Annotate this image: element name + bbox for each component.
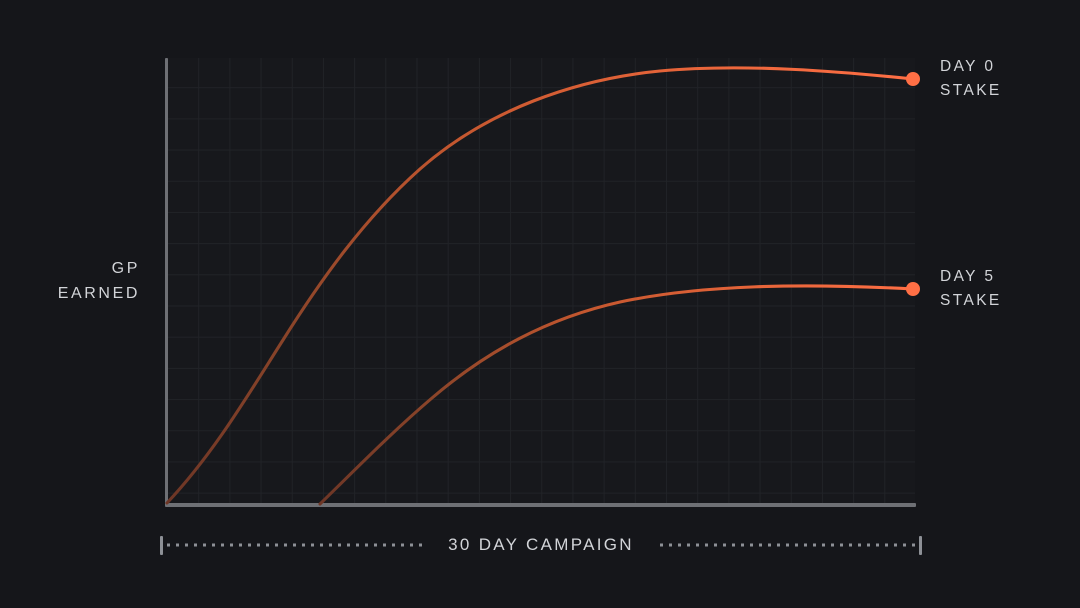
y-axis-title-line2: EARNED xyxy=(0,281,140,306)
endpoint-marker-day5 xyxy=(906,282,920,296)
bracket-dots-right xyxy=(656,536,919,555)
series-label-day0-line2: STAKE xyxy=(940,79,1002,103)
bracket-cap-right xyxy=(919,536,922,555)
chart-canvas: GP EARNED DAY 0 STAKE DAY 5 STAKE 30 DAY… xyxy=(0,0,1080,608)
series-label-day5-line1: DAY 5 xyxy=(940,265,1002,289)
y-axis-title-line1: GP xyxy=(0,256,140,281)
series-line-day5 xyxy=(320,286,913,504)
x-axis-caption: 30 DAY CAMPAIGN xyxy=(160,530,922,560)
series-label-day5-line2: STAKE xyxy=(940,289,1002,313)
series-label-day0-line1: DAY 0 xyxy=(940,55,1002,79)
endpoint-marker-day0 xyxy=(906,72,920,86)
bracket-dots-left xyxy=(163,536,426,555)
series-curves xyxy=(0,0,1080,608)
y-axis-title: GP EARNED xyxy=(0,256,140,306)
series-label-day5: DAY 5 STAKE xyxy=(940,265,1002,313)
x-axis-caption-text: 30 DAY CAMPAIGN xyxy=(426,535,656,555)
series-label-day0: DAY 0 STAKE xyxy=(940,55,1002,103)
